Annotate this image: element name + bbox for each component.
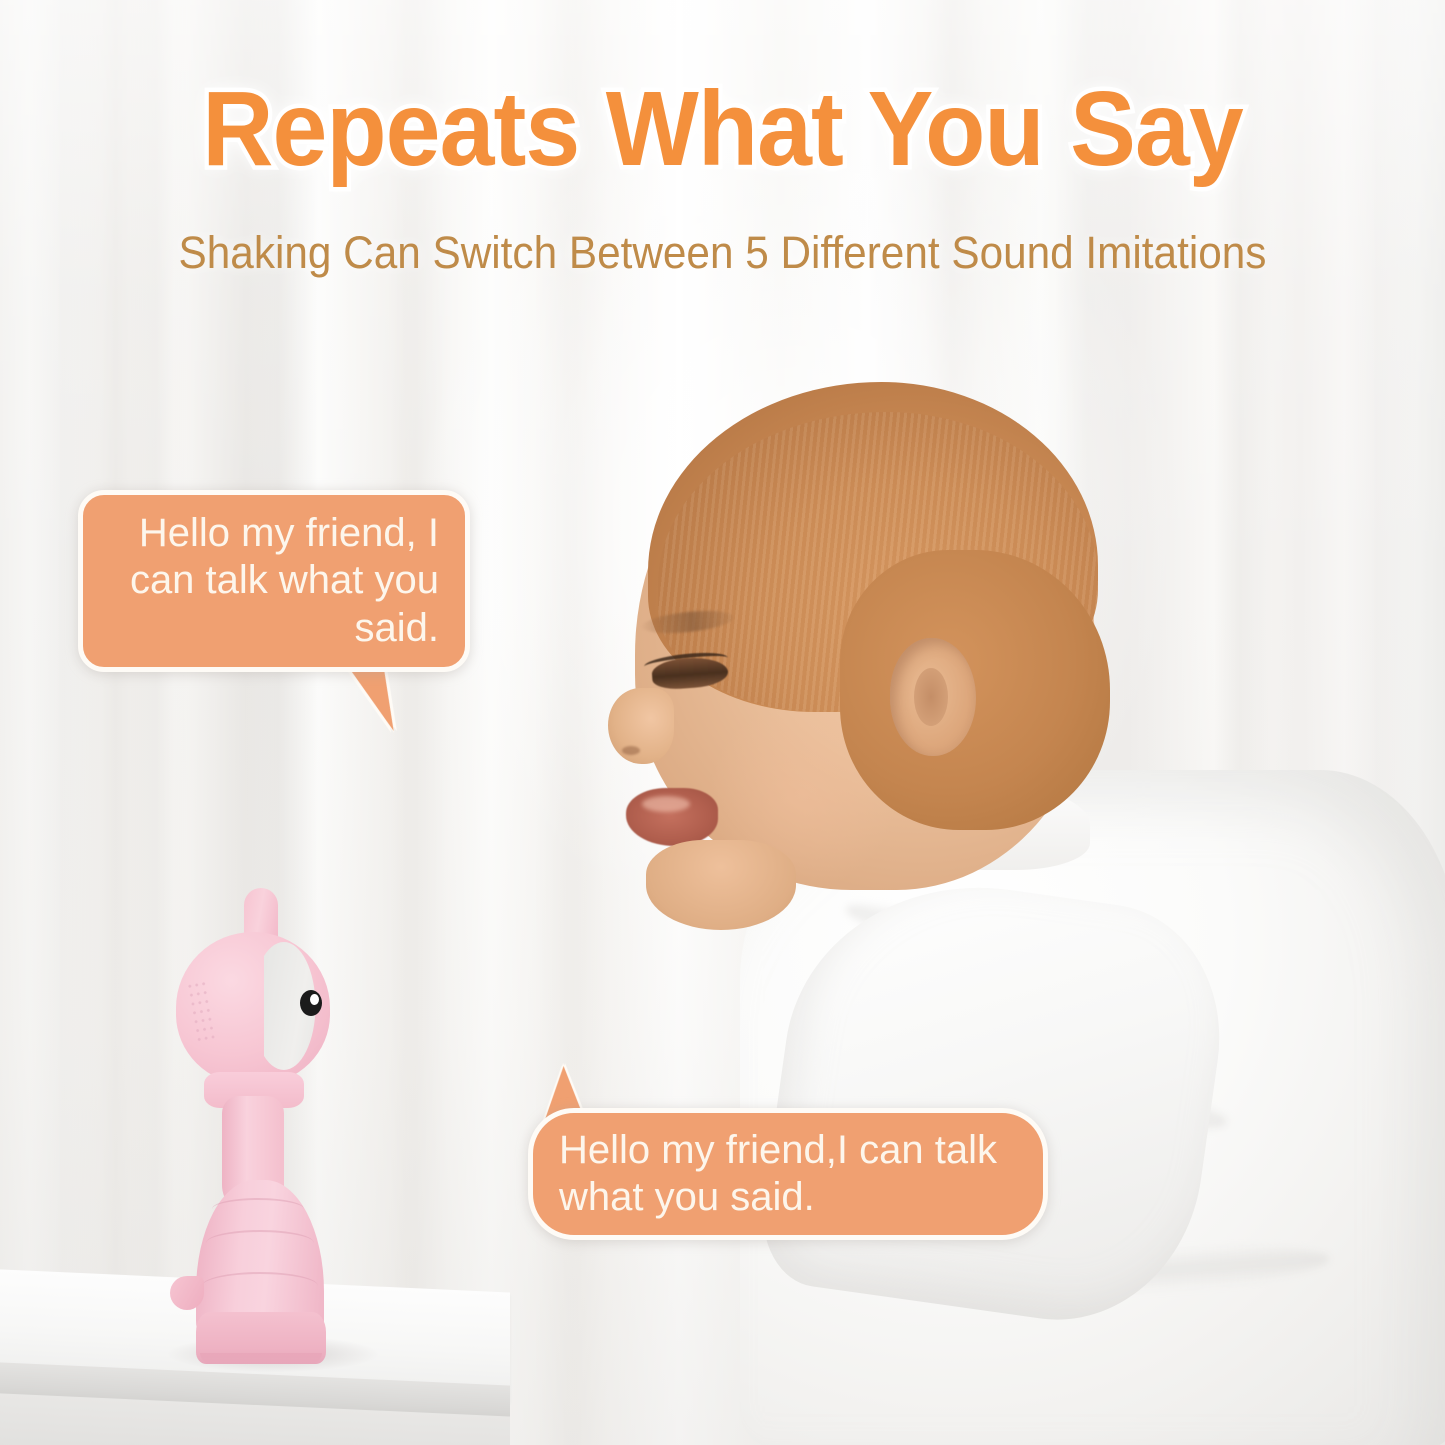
toy-eye-icon — [300, 990, 322, 1016]
speech-bubble-top-left: Hello my friend, I can talk what you sai… — [78, 490, 470, 672]
baby-nostril — [622, 746, 640, 755]
speech-bubble-text: Hello my friend, I can talk what you sai… — [109, 510, 439, 652]
speech-bubble-bottom-center: Hello my friend,I can talk what you said… — [528, 1108, 1048, 1240]
page-title: Repeats What You Say — [51, 72, 1395, 186]
page-subtitle: Shaking Can Switch Between 5 Different S… — [43, 228, 1401, 278]
speech-bubble-text: Hello my friend,I can talk what you said… — [559, 1127, 1017, 1221]
toy-seam — [212, 1198, 304, 1220]
toy-seam — [206, 1230, 314, 1256]
baby-lip-highlight — [642, 796, 690, 812]
product-marketing-image: Repeats What You Say Shaking Can Switch … — [0, 0, 1445, 1445]
baby-nose — [608, 688, 674, 764]
baby-chin — [646, 840, 796, 930]
toy-tail — [170, 1276, 204, 1310]
toy-base — [196, 1312, 326, 1364]
toy-seam — [202, 1272, 318, 1300]
pink-bunny-rattle-toy — [160, 880, 390, 1370]
baby-photo — [590, 370, 1445, 1445]
baby-ear — [890, 638, 976, 756]
